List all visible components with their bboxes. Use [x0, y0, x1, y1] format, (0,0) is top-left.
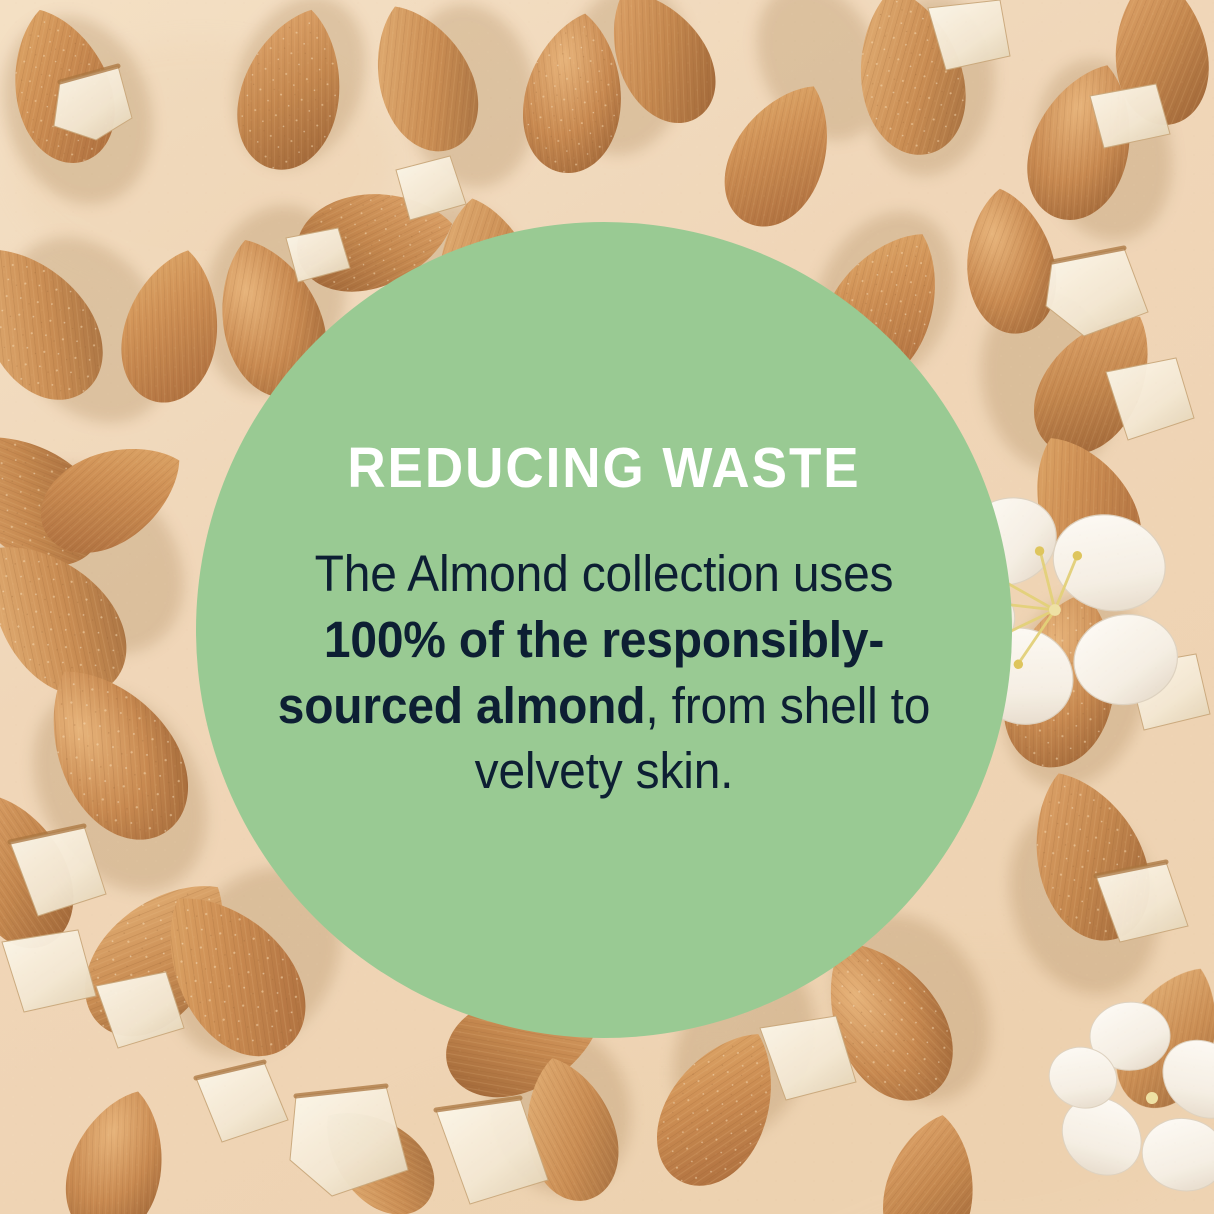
badge-body-part-1: The Almond collection uses	[315, 545, 894, 602]
badge-heading: REDUCING WASTE	[347, 440, 860, 497]
badge-body-text: The Almond collection uses 100% of the r…	[275, 541, 933, 804]
product-lifestyle-image: REDUCING WASTE The Almond collection use…	[0, 0, 1214, 1214]
reducing-waste-badge: REDUCING WASTE The Almond collection use…	[196, 222, 1012, 1038]
